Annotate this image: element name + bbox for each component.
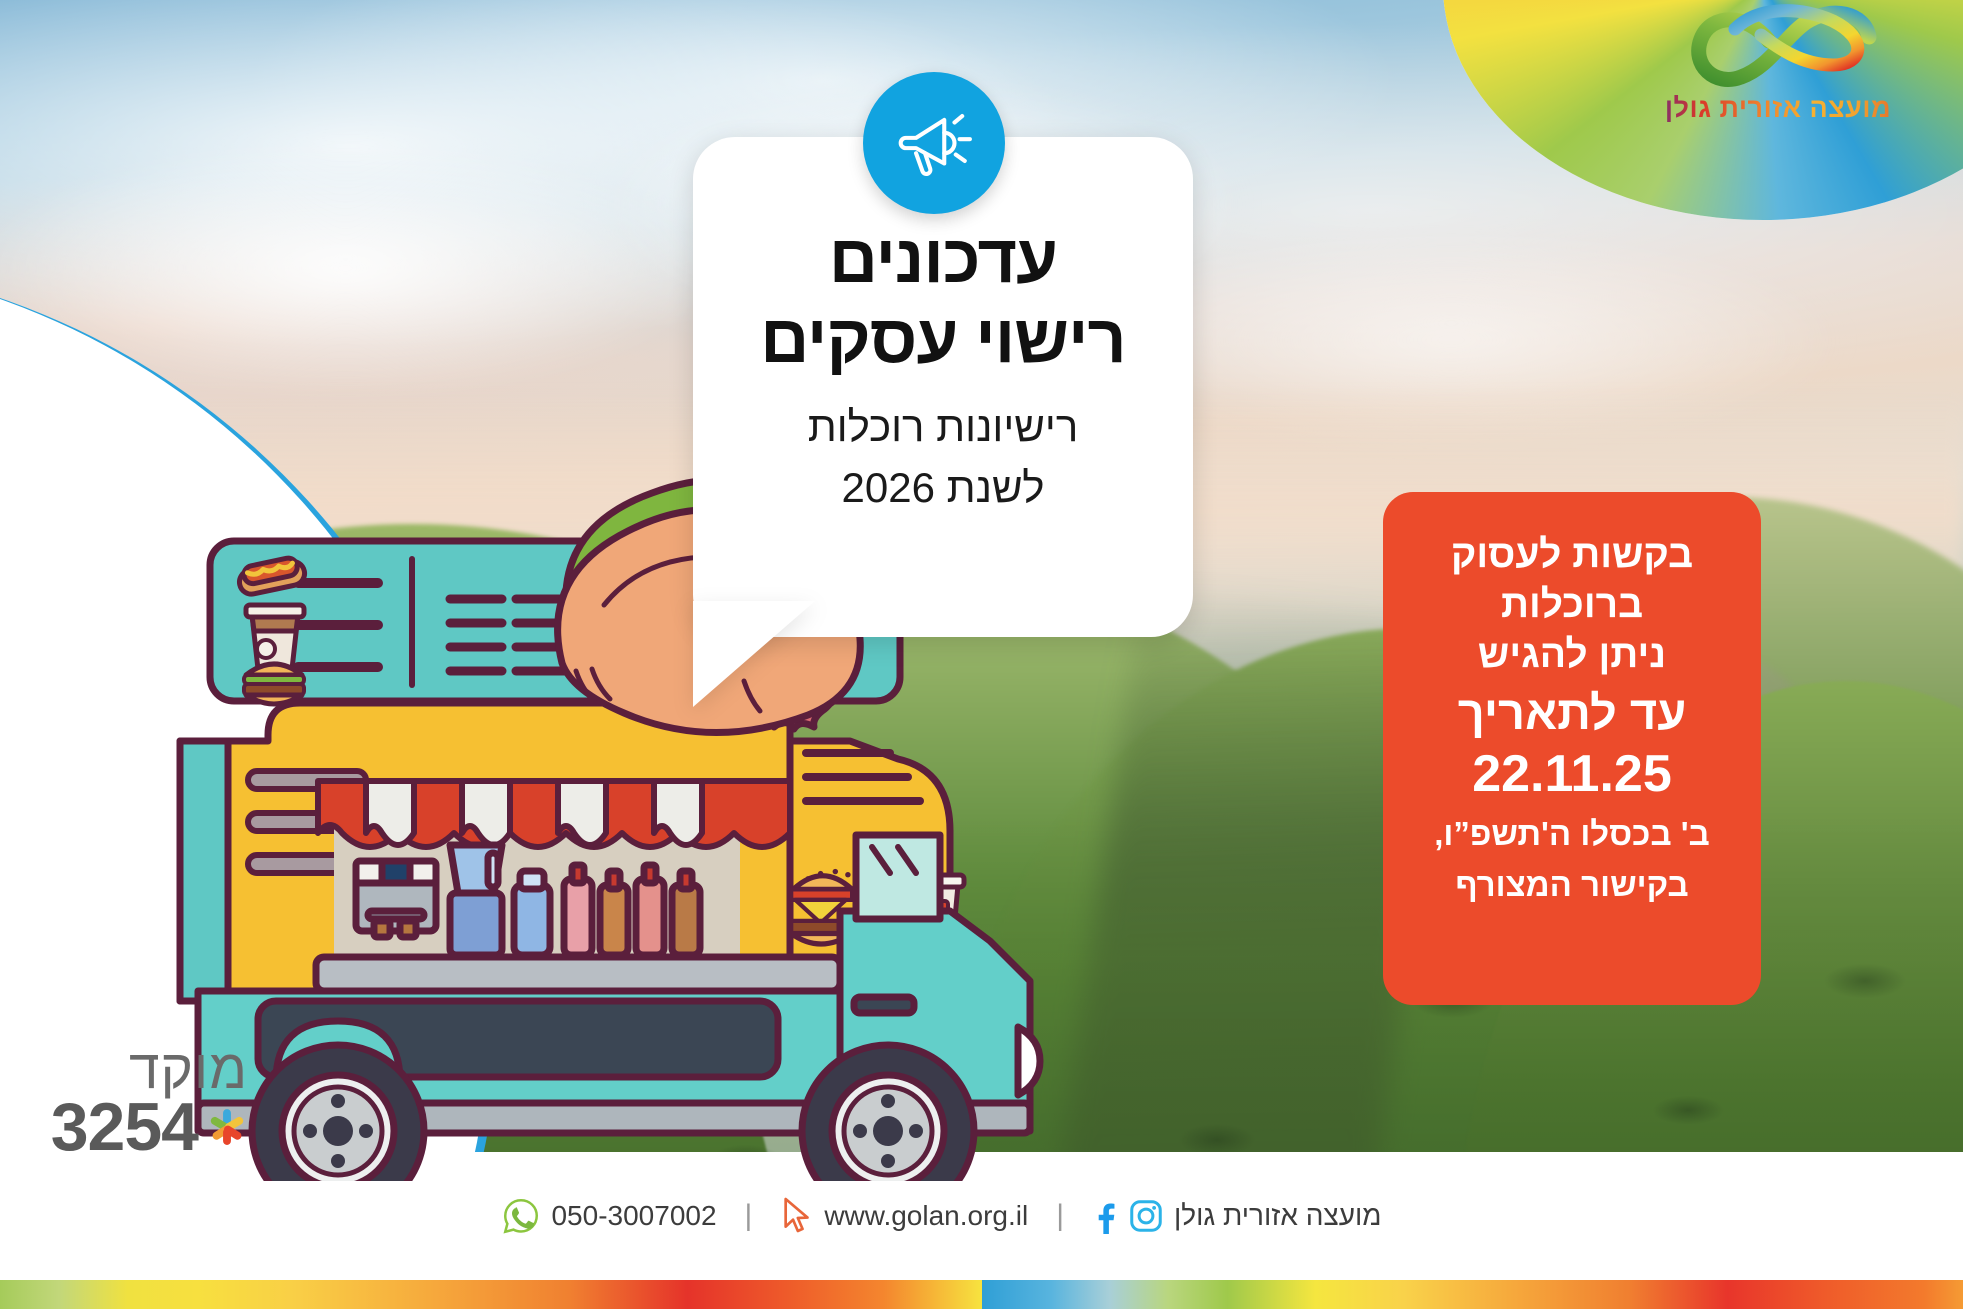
footer-separator-2: | xyxy=(735,1199,763,1233)
notice-hebrew-date: ב' בכסלו ה'תשפ”ו, xyxy=(1401,813,1743,856)
speech-bubble-tail xyxy=(693,601,815,707)
rainbow-segment-right xyxy=(0,1280,982,1309)
colored-asterisk-icon xyxy=(206,1106,248,1148)
facebook-icon[interactable] xyxy=(1092,1198,1118,1234)
footer-social-group: מועצה אזורית גולן xyxy=(1092,1198,1382,1234)
deadline-notice-box: בקשות לעסוק ברוכלות ניתן להגיש עד לתאריך… xyxy=(1383,492,1761,1005)
council-logo-text: מועצה אזורית גולן xyxy=(1613,93,1943,124)
footer-phone-group[interactable]: 050-3007002 xyxy=(501,1196,716,1236)
footer-website-group[interactable]: www.golan.org.il xyxy=(780,1196,1028,1236)
card-heading-line2: רישוי עסקים xyxy=(745,301,1141,379)
golan-loop-icon xyxy=(1673,0,1883,91)
notice-line5: בקישור המצורף xyxy=(1401,864,1743,907)
rainbow-bottom-strip xyxy=(0,1280,1963,1309)
card-subheading-line2: לשנת 2026 xyxy=(745,461,1141,516)
card-subheading-line1: רישיונות רוכלות xyxy=(745,400,1141,455)
footer-council-name: מועצה אזורית גולן xyxy=(1174,1200,1382,1232)
footer-website-url[interactable]: www.golan.org.il xyxy=(824,1200,1028,1232)
cursor-arrow-icon xyxy=(780,1196,814,1236)
whatsapp-icon[interactable] xyxy=(501,1196,541,1236)
card-heading-line1: עדכונים xyxy=(745,221,1141,299)
notice-deadline-date: 22.11.25 xyxy=(1401,743,1743,805)
instagram-icon[interactable] xyxy=(1128,1198,1164,1234)
footer-separator-1: | xyxy=(1046,1199,1074,1233)
hotline-number: 3254 xyxy=(51,1093,198,1161)
notice-line4: עד לתאריך xyxy=(1401,684,1743,741)
rainbow-segment-left xyxy=(982,1280,1963,1309)
megaphone-icon xyxy=(893,102,975,184)
notice-line2: ברוכלות xyxy=(1401,580,1743,630)
hotline-block: מוקד 3254 xyxy=(18,1043,248,1161)
poster-canvas: עדכונים רישוי עסקים רישיונות רוכלות לשנת… xyxy=(0,0,1963,1309)
notice-line1: בקשות לעסוק xyxy=(1401,530,1743,580)
notice-line3: ניתן להגיש xyxy=(1401,630,1743,680)
megaphone-badge xyxy=(863,72,1005,214)
footer-contact-bar: מועצה אזורית גולן | www.golan.org.il | xyxy=(0,1152,1963,1280)
footer-phone-number[interactable]: 050-3007002 xyxy=(551,1200,716,1232)
